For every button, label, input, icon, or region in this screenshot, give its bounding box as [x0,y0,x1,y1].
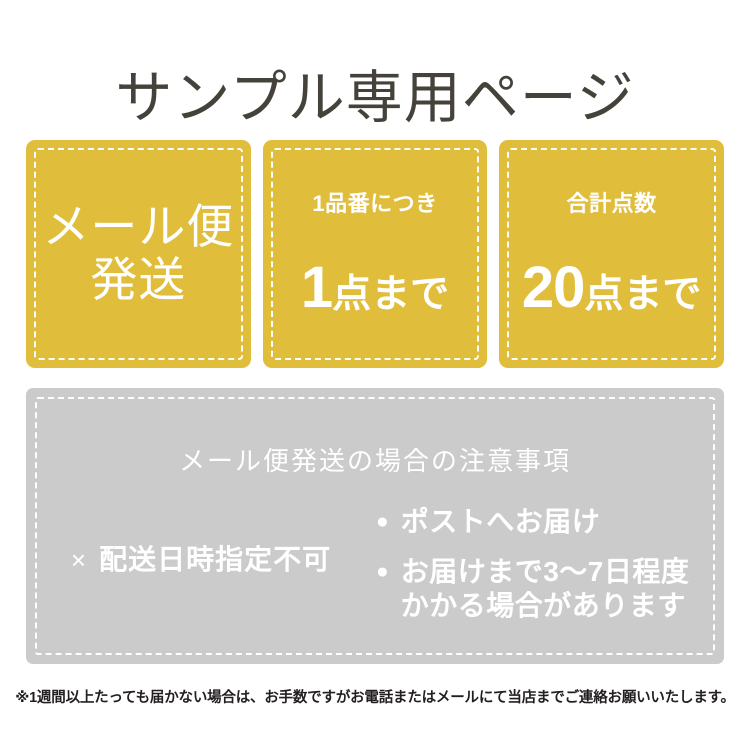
total-items-limit-value: 20点まで [499,259,724,317]
total-items-limit-number: 20 [522,255,585,320]
info-card-row: メール便 発送 1品番につき 1点まで 合計点数 20点まで [26,140,724,368]
bullet-text-line-1: ポストへお届け [401,506,601,537]
card-per-item-limit: 1品番につき 1点まで [263,140,488,368]
notice-restriction-item: ×配送日時指定不可 [26,505,376,578]
notice-panel-title: メール便発送の場合の注意事項 [26,441,724,478]
total-items-limit-unit: 点まで [584,273,701,316]
list-item: ● ポストへお届け [376,505,724,539]
bullet-text-block: お届けまで3〜7日程度 かかる場合があります [401,555,690,623]
notice-panel: メール便発送の場合の注意事項 ×配送日時指定不可 ● ポストへお届け ● お届け… [26,388,724,664]
sample-shipping-info-page: サンプル専用ページ メール便 発送 1品番につき 1点まで 合計点数 [0,0,750,750]
bullet-text-line-1: お届けまで3〜7日程度 [401,555,690,589]
per-item-limit-heading: 1品番につき [263,191,488,217]
bullet-dot-icon: ● [376,505,389,539]
notice-restriction-label: 配送日時指定不可 [99,544,331,575]
per-item-limit-unit: 点まで [332,273,449,316]
bullet-dot-icon: ● [376,555,389,589]
card-shipping-method: メール便 発送 [26,140,251,368]
shipping-method-line-2: 発送 [26,254,251,307]
notice-panel-body: ×配送日時指定不可 ● ポストへお届け ● お届けまで3〜7日程度 かかる場合が… [26,505,724,623]
page-title: サンプル専用ページ [0,66,750,132]
card-total-items-limit: 合計点数 20点まで [499,140,724,368]
per-item-limit-value: 1点まで [263,259,488,317]
footnote-text: ※1週間以上たっても届かない場合は、お手数ですがお電話またはメールにて当店までご… [0,686,750,707]
total-items-limit-heading: 合計点数 [499,191,724,217]
list-item: ● お届けまで3〜7日程度 かかる場合があります [376,555,724,623]
per-item-limit-number: 1 [301,255,332,320]
shipping-method-line-1: メール便 [26,201,251,254]
bullet-text-line-2: かかる場合があります [401,589,690,623]
notice-bullet-list: ● ポストへお届け ● お届けまで3〜7日程度 かかる場合があります [376,505,724,623]
bullet-text-block: ポストへお届け [401,505,601,539]
cross-mark-icon: × [71,545,87,576]
